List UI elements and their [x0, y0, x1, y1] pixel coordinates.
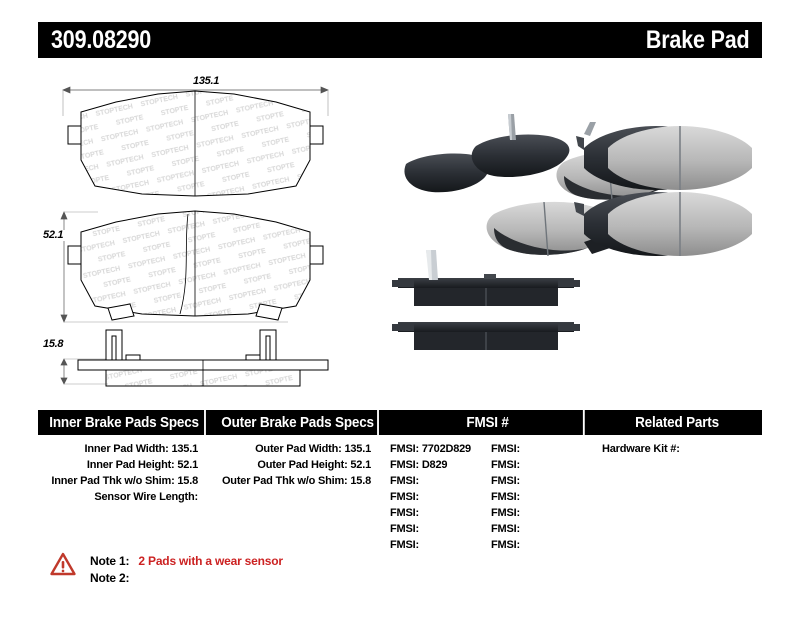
spec-label: Outer Pad Height: [257, 459, 347, 471]
spec-row: Inner Pad Thk w/o Shim: 15.8 [38, 473, 212, 489]
column-header-inner-specs: Inner Brake Pads Specs [44, 410, 206, 435]
fmsi-row: FMSI: [390, 505, 491, 521]
fmsi-row: FMSI: [390, 473, 491, 489]
pad-middle-left-ear [68, 246, 81, 264]
spec-value: 135.1 [344, 443, 371, 455]
pad-right-ear [310, 126, 323, 144]
fmsi-row: FMSI: [491, 473, 592, 489]
column-header-outer-specs: Outer Brake Pads Specs [218, 410, 379, 435]
pad-nub-left [126, 355, 140, 360]
related-parts-column: Hardware Kit #: [592, 441, 762, 553]
pad-left-ear [68, 126, 81, 144]
specifications-table: Inner Brake Pads Specs Outer Brake Pads … [38, 410, 762, 553]
spec-label: Outer Pad Thk w/o Shim: [222, 475, 348, 487]
width-dimension-label: 135.1 [190, 76, 222, 87]
fmsi-row: FMSI: [491, 505, 592, 521]
fmsi-row: FMSI: [390, 489, 491, 505]
spec-row: Outer Pad Height: 52.1 [212, 457, 385, 473]
pad-edge-clip-left [106, 330, 122, 360]
fmsi-row: FMSI: [390, 537, 491, 553]
spec-label: Hardware Kit #: [602, 443, 680, 455]
fmsi-row: FMSI: [491, 489, 592, 505]
spec-value: 135.1 [171, 443, 198, 455]
fmsi-label: FMSI: [491, 523, 520, 535]
outer-specs-column: Outer Pad Width: 135.1 Outer Pad Height:… [212, 441, 385, 553]
spec-label: Sensor Wire Length: [94, 491, 198, 503]
fmsi-row: FMSI: [491, 537, 592, 553]
fmsi-row: FMSI: [491, 441, 592, 457]
fmsi-label: FMSI: [491, 475, 520, 487]
fmsi-value: D829 [422, 459, 448, 471]
pad-edge-clip-right [260, 330, 276, 360]
fmsi-label: FMSI: [390, 507, 419, 519]
spec-row: Outer Pad Width: 135.1 [212, 441, 385, 457]
height-dimension-label: 52.1 [40, 230, 66, 241]
fmsi-label: FMSI: [491, 507, 520, 519]
note-line: Note 1: 2 Pads with a wear sensor [90, 553, 283, 570]
fmsi-subcolumn-right: FMSI: FMSI: FMSI: FMSI: [491, 441, 592, 553]
title-bar: 309.08290 Brake Pad [38, 22, 762, 58]
spec-value: 52.1 [177, 459, 198, 471]
column-header-fmsi: FMSI # [392, 410, 585, 435]
drawing-area: STOPTECH STOPTECH [38, 64, 762, 394]
fmsi-row: FMSI: D829 [390, 457, 491, 473]
spec-label: Inner Pad Width: [85, 443, 169, 455]
pad-middle-view-body [81, 211, 310, 316]
product-type-label: Brake Pad [645, 28, 749, 53]
fmsi-row: FMSI: [390, 521, 491, 537]
product-photographs [388, 64, 762, 394]
fmsi-label: FMSI: [491, 491, 520, 503]
part-number: 309.08290 [51, 28, 151, 53]
thickness-dimension-label: 15.8 [40, 339, 66, 350]
note-label: Note 1: [90, 554, 129, 568]
fmsi-row: FMSI: [491, 521, 592, 537]
fmsi-label: FMSI: [390, 523, 419, 535]
fmsi-subcolumn-left: FMSI: 7702D829 FMSI: D829 FMSI: FMSI: [390, 441, 491, 553]
spec-value: 15.8 [177, 475, 198, 487]
pad-nub-right [246, 355, 260, 360]
spec-label: Outer Pad Width: [255, 443, 342, 455]
spec-row: Inner Pad Height: 52.1 [38, 457, 212, 473]
spec-row: Inner Pad Width: 135.1 [38, 441, 212, 457]
fmsi-label: FMSI: [491, 443, 520, 455]
table-body: Inner Pad Width: 135.1 Inner Pad Height:… [38, 435, 762, 553]
brake-pad-technical-drawing: STOPTECH STOPTECH [38, 64, 388, 394]
fmsi-label: FMSI: [491, 539, 520, 551]
spec-value: 15.8 [350, 475, 371, 487]
column-header-related-parts: Related Parts [598, 410, 756, 435]
note-value: 2 Pads with a wear sensor [138, 554, 282, 568]
inner-specs-column: Inner Pad Width: 135.1 Inner Pad Height:… [38, 441, 212, 553]
note-label: Note 2: [90, 571, 129, 585]
fmsi-label: FMSI: [390, 459, 419, 471]
pad-top-view-body [81, 91, 310, 196]
fmsi-row: FMSI: [491, 457, 592, 473]
note-line: Note 2: [90, 570, 283, 587]
thickness-dimension-line [61, 359, 67, 384]
product-photo-panel [388, 64, 762, 394]
spec-label: Inner Pad Thk w/o Shim: [51, 475, 174, 487]
fmsi-value: 7702D829 [422, 443, 471, 455]
fmsi-row: FMSI: 7702D829 [390, 441, 491, 457]
spec-row: Outer Pad Thk w/o Shim: 15.8 [212, 473, 385, 489]
spec-row: Sensor Wire Length: [38, 489, 212, 505]
pad-middle-right-ear [310, 246, 323, 264]
spec-label: Inner Pad Height: [87, 459, 175, 471]
spec-row: Hardware Kit #: [592, 441, 762, 457]
fmsi-label: FMSI: [390, 475, 419, 487]
fmsi-label: FMSI: [390, 539, 419, 551]
fmsi-column: FMSI: 7702D829 FMSI: D829 FMSI: FMSI: [385, 441, 592, 553]
notes-section: Note 1: 2 Pads with a wear sensor Note 2… [50, 552, 283, 587]
warning-triangle-icon [50, 552, 76, 576]
spec-value: 52.1 [350, 459, 371, 471]
fmsi-label: FMSI: [390, 443, 419, 455]
cad-drawing-panel: STOPTECH STOPTECH [38, 64, 388, 394]
table-header-row: Inner Brake Pads Specs Outer Brake Pads … [38, 410, 762, 435]
fmsi-label: FMSI: [390, 491, 419, 503]
fmsi-label: FMSI: [491, 459, 520, 471]
notes-text-block: Note 1: 2 Pads with a wear sensor Note 2… [90, 552, 283, 587]
photo-edge-view-pads [392, 250, 580, 350]
